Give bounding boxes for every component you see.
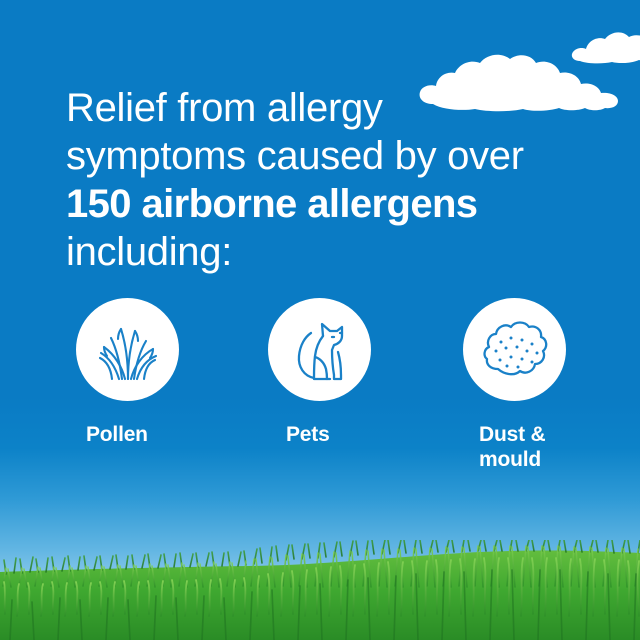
pollen-icon-disc	[76, 298, 179, 401]
headline: Relief from allergy symptoms caused by o…	[66, 84, 596, 276]
headline-line-4: including:	[66, 228, 596, 276]
allergen-item-pollen[interactable]: Pollen	[48, 298, 208, 447]
dust-cloud-icon	[481, 320, 549, 380]
allergy-relief-poster: Relief from allergy symptoms caused by o…	[0, 0, 640, 640]
allergen-label-pollen: Pollen	[86, 422, 208, 447]
grass-icon	[95, 319, 161, 381]
dust-mould-icon-disc	[463, 298, 566, 401]
pets-icon-disc	[268, 298, 371, 401]
grass-field-image	[0, 540, 640, 640]
allergen-item-pets[interactable]: Pets	[240, 298, 400, 447]
allergen-label-pets: Pets	[286, 422, 400, 447]
allergen-item-dust-mould[interactable]: Dust & mould	[435, 298, 595, 472]
headline-line-2: symptoms caused by over	[66, 132, 596, 180]
headline-line-1: Relief from allergy	[66, 84, 596, 132]
allergen-label-dust-mould: Dust & mould	[479, 422, 595, 472]
headline-line-3-bold: 150 airborne allergens	[66, 180, 596, 228]
allergen-icon-row: Pollen	[0, 298, 640, 478]
cat-icon	[289, 317, 351, 383]
